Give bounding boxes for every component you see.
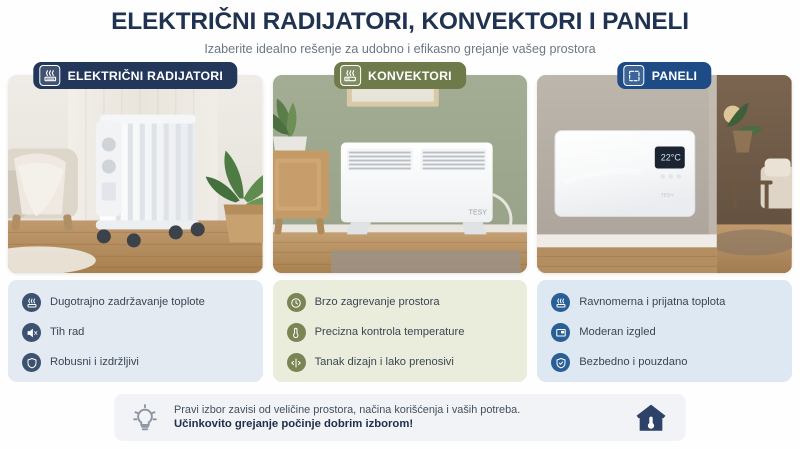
- card-badge-label: KONVEKTORI: [368, 69, 452, 83]
- banner-line-1: Pravi izbor zavisi od veličine prostora,…: [174, 403, 634, 418]
- feature-item: Brzo zagrevanje prostora: [287, 293, 518, 312]
- feature-item: Moderan izgled: [551, 323, 782, 342]
- thermometer-icon: [287, 323, 306, 342]
- feature-item: Bezbedno i pouzdano: [551, 353, 782, 372]
- card-badge-label: PANELI: [652, 69, 697, 83]
- feature-label: Ravnomerna i prijatna toplota: [579, 296, 725, 309]
- card-badge-label: ELEKTRIČNI RADIJATORI: [68, 69, 223, 83]
- banner-text: Pravi izbor zavisi od veličine prostora,…: [160, 403, 634, 433]
- feature-label: Tanak dizajn i lako prenosivi: [315, 356, 454, 369]
- card-photo-panels: 22°C TESY: [537, 75, 792, 273]
- feature-item: Robusni i izdržljivi: [22, 353, 253, 372]
- card-features-convectors: Brzo zagrevanje prostora Precizna kontro…: [273, 280, 528, 382]
- resize-icon: [287, 353, 306, 372]
- shield-check-icon: [551, 353, 570, 372]
- lightbulb-icon: [130, 403, 160, 433]
- feature-label: Tih rad: [50, 326, 84, 339]
- svg-text:TESY: TESY: [661, 192, 675, 198]
- banner-line-2: Učinkovito grejanje počinje dobrim izbor…: [174, 417, 634, 432]
- page-title: ELEKTRIČNI RADIJATORI, KONVEKTORI I PANE…: [0, 9, 800, 36]
- card-electric-radiators[interactable]: ELEKTRIČNI RADIJATORI: [8, 62, 263, 382]
- card-convectors[interactable]: KONVEKTORI: [273, 62, 528, 382]
- feature-label: Moderan izgled: [579, 326, 656, 339]
- card-features-electric-radiators: Dugotrajno zadržavanje toplote Tih rad: [8, 280, 263, 382]
- feature-label: Precizna kontrola temperature: [315, 326, 465, 339]
- card-badge-convectors: KONVEKTORI: [334, 62, 466, 89]
- card-badge-electric-radiators: ELEKTRIČNI RADIJATORI: [34, 62, 237, 89]
- display-panel-icon: [551, 323, 570, 342]
- radiator-icon: [551, 293, 570, 312]
- infographic-page: ELEKTRIČNI RADIJATORI, KONVEKTORI I PANE…: [0, 0, 800, 449]
- feature-item: Precizna kontrola temperature: [287, 323, 518, 342]
- product-cards-row: ELEKTRIČNI RADIJATORI: [8, 62, 792, 382]
- page-header: ELEKTRIČNI RADIJATORI, KONVEKTORI I PANE…: [0, 0, 800, 56]
- radiator-icon: [40, 65, 61, 86]
- house-thermometer-icon: [634, 401, 668, 435]
- card-features-panels: Ravnomerna i prijatna toplota Moderan iz…: [537, 280, 792, 382]
- feature-item: Tanak dizajn i lako prenosivi: [287, 353, 518, 372]
- card-badge-panels: PANELI: [618, 62, 711, 89]
- svg-text:TESY: TESY: [468, 209, 487, 216]
- feature-label: Dugotrajno zadržavanje toplote: [50, 296, 205, 309]
- clock-icon: [287, 293, 306, 312]
- mute-icon: [22, 323, 41, 342]
- panel-icon: [624, 65, 645, 86]
- feature-label: Robusni i izdržljivi: [50, 356, 139, 369]
- bottom-advice-banner: Pravi izbor zavisi od veličine prostora,…: [114, 394, 686, 441]
- shield-icon: [22, 353, 41, 372]
- feature-label: Brzo zagrevanje prostora: [315, 296, 440, 309]
- convector-icon: [340, 65, 361, 86]
- radiator-icon: [22, 293, 41, 312]
- page-subtitle: Izaberite idealno rešenje za udobno i ef…: [0, 42, 800, 56]
- card-photo-convectors: TESY: [273, 75, 528, 273]
- svg-text:22°C: 22°C: [661, 153, 682, 163]
- feature-item: Tih rad: [22, 323, 253, 342]
- card-photo-electric-radiators: [8, 75, 263, 273]
- feature-item: Dugotrajno zadržavanje toplote: [22, 293, 253, 312]
- feature-label: Bezbedno i pouzdano: [579, 356, 687, 369]
- card-panels[interactable]: PANELI: [537, 62, 792, 382]
- feature-item: Ravnomerna i prijatna toplota: [551, 293, 782, 312]
